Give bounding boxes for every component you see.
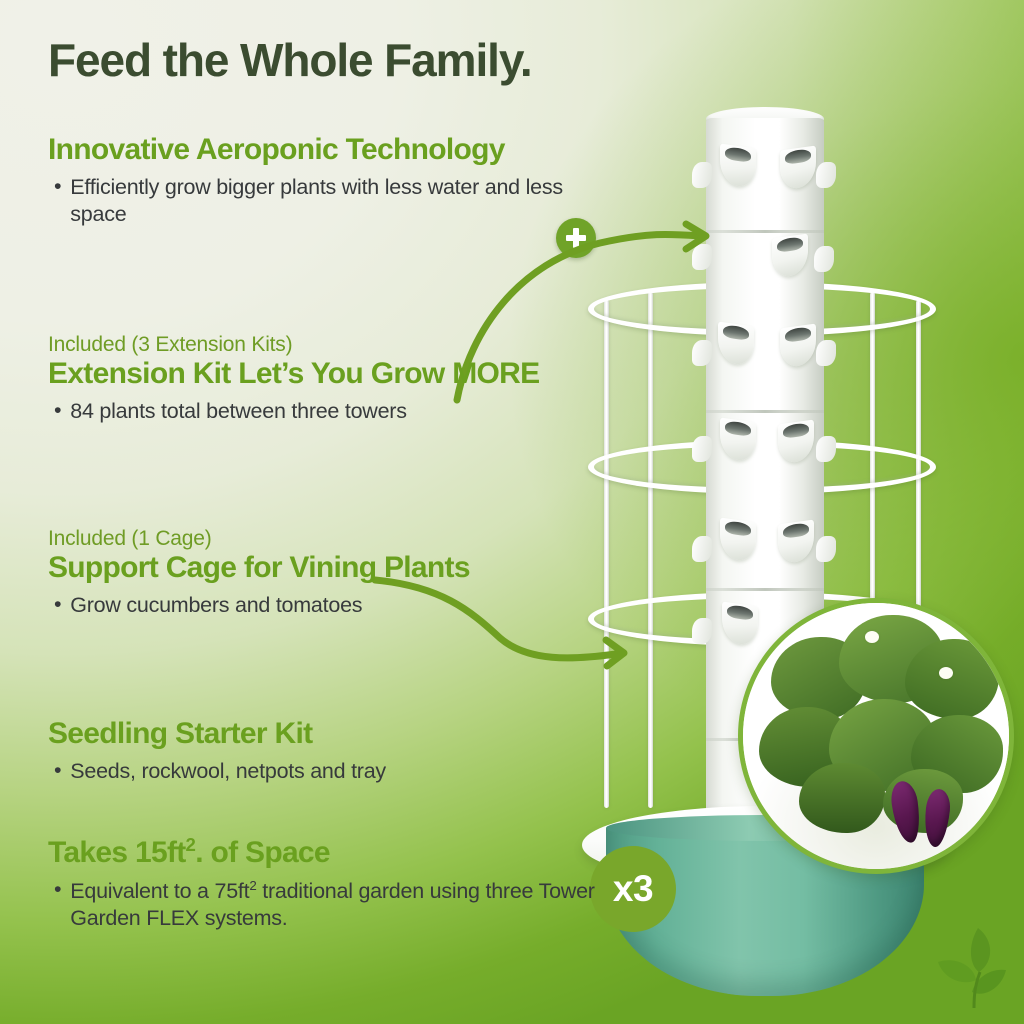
port-opening [725,520,751,537]
feature-label: Included (1 Cage) [48,527,596,551]
blossom [939,667,953,679]
feature-bullet: • Grow cucumbers and tomatoes [48,592,596,620]
tower-port-nub [816,536,836,562]
bullet-glyph: • [54,592,61,620]
leaf-logo-icon [934,924,1010,1010]
product-illustration: x3 [560,0,1024,1024]
feature-bullet: • 84 plants total between three towers [48,398,596,426]
tower-port-nub [692,162,712,188]
bullet-text: 84 plants total between three towers [70,398,406,426]
feature-aeroponic: Innovative Aeroponic Technology • Effici… [48,134,596,229]
leaf-left [938,960,976,982]
feature-bullet: • Efficiently grow bigger plants with le… [48,174,596,229]
feature-bullet: • Seeds, rockwool, netpots and tray [48,758,596,786]
copy-column: Feed the Whole Family. Innovative Aeropo… [44,0,604,1024]
bullet-text: Equivalent to a 75ft2 traditional garden… [70,877,596,933]
port-opening [777,236,803,253]
blossom [865,631,879,643]
port-opening [783,522,809,539]
feature-seedling-kit: Seedling Starter Kit • Seeds, rockwool, … [48,718,596,785]
bullet-glyph: • [54,758,61,786]
feature-extension-kit: Included (3 Extension Kits) Extension Ki… [48,333,596,426]
tower-port-nub [816,436,836,462]
bullet-text: Grow cucumbers and tomatoes [70,592,362,620]
feature-title-suffix: . of Space [195,836,330,869]
feature-title-superscript: 2 [186,834,196,855]
feature-space: Takes 15ft2. of Space • Equivalent to a … [48,835,596,933]
feature-title: Extension Kit Let’s You Grow MORE [48,358,596,391]
feature-title-prefix: Takes 15ft [48,836,186,869]
feature-title: Support Cage for Vining Plants [48,552,596,585]
cage-post [648,292,653,808]
bullet-text: Efficiently grow bigger plants with less… [70,174,596,229]
port-opening [785,326,811,343]
bullet-text: Seeds, rockwool, netpots and tray [70,758,386,786]
leaf-shape [799,763,885,833]
tower-seam [706,588,824,591]
tower-port-nub [814,246,834,272]
bullet-text-prefix: Equivalent to a 75ft [70,879,249,903]
port-opening [723,324,749,341]
port-opening [725,420,751,437]
tower-seam [706,410,824,413]
feature-label: Included (3 Extension Kits) [48,333,596,357]
bullet-superscript: 2 [249,878,256,893]
tower-port-nub [816,162,836,188]
cage-post [604,300,609,808]
page-title: Feed the Whole Family. [48,36,608,86]
tower-port-nub [692,536,712,562]
feature-bullet: • Equivalent to a 75ft2 traditional gard… [48,877,596,933]
feature-title: Innovative Aeroponic Technology [48,134,596,167]
bullet-glyph: • [54,398,61,426]
tower-port-nub [692,244,712,270]
port-opening [785,148,811,165]
bullet-glyph: • [54,877,61,933]
feature-title: Takes 15ft2. of Space [48,835,596,870]
leaf-upper [971,928,990,972]
plant-closeup-inset [738,598,1014,874]
quantity-badge-label: x3 [613,868,653,910]
bullet-glyph: • [54,174,61,229]
port-opening [783,422,809,439]
leaf-shape [905,639,999,719]
tower-port-nub [692,340,712,366]
feature-title: Seedling Starter Kit [48,718,596,751]
tower-port-nub [692,436,712,462]
port-opening [725,146,751,163]
tower-seam [706,230,824,233]
tower-port-nub [692,618,712,644]
feature-support-cage: Included (1 Cage) Support Cage for Vinin… [48,527,596,620]
tower-port-nub [816,340,836,366]
